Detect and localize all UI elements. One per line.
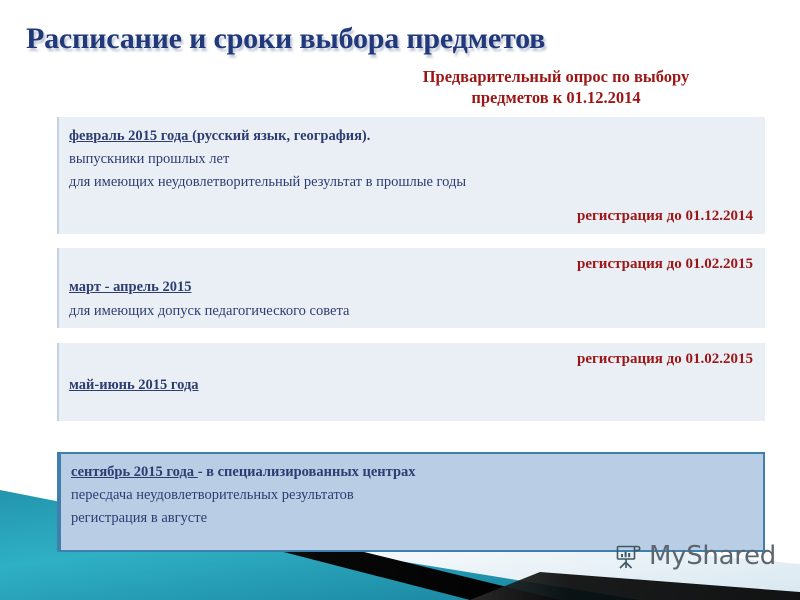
box-heading-rest: (русский язык, география).: [192, 128, 370, 144]
schedule-box-march-april-2015: регистрация до 01.02.2015 март - апрель …: [57, 248, 765, 328]
box-heading: март - апрель 2015: [69, 278, 191, 296]
box-body-line: для имеющих неудовлетворительный результ…: [69, 173, 466, 191]
subtitle: Предварительный опрос по выбору предмето…: [340, 66, 772, 108]
box-body-line: пересдача неудовлетворительных результат…: [71, 486, 354, 504]
myshared-logo: MyShared: [613, 541, 776, 571]
subtitle-line-2: предметов к 01.12.2014: [340, 87, 772, 108]
presentation-chart-icon: [613, 541, 643, 571]
schedule-box-may-june-2015: регистрация до 01.02.2015 май-июнь 2015 …: [57, 343, 765, 421]
box-heading-underlined: февраль 2015 года: [69, 128, 192, 144]
slide-canvas: Расписание и сроки выбора предметов Пред…: [0, 0, 800, 600]
page-title: Расписание и сроки выбора предметов: [26, 22, 726, 56]
registration-deadline: регистрация до 01.12.2014: [577, 208, 753, 225]
registration-deadline: регистрация до 01.02.2015: [577, 256, 753, 273]
box-body-line: для имеющих допуск педагогического совет…: [69, 302, 349, 320]
box-heading-rest: - в специализированных центрах: [198, 464, 416, 480]
box-heading: май-июнь 2015 года: [69, 376, 199, 394]
registration-deadline: регистрация до 01.02.2015: [577, 351, 753, 368]
box-body-line: выпускники прошлых лет: [69, 150, 229, 168]
box-heading: сентябрь 2015 года - в специализированны…: [71, 463, 416, 481]
myshared-logo-text: MyShared: [649, 543, 776, 569]
schedule-box-february-2015: февраль 2015 года (русский язык, географ…: [57, 117, 765, 234]
box-heading: февраль 2015 года (русский язык, географ…: [69, 127, 370, 145]
box-body-line: регистрация в августе: [71, 509, 207, 527]
schedule-box-september-2015: сентябрь 2015 года - в специализированны…: [57, 452, 765, 552]
subtitle-line-1: Предварительный опрос по выбору: [423, 67, 690, 86]
box-heading-underlined: сентябрь 2015 года: [71, 464, 198, 480]
